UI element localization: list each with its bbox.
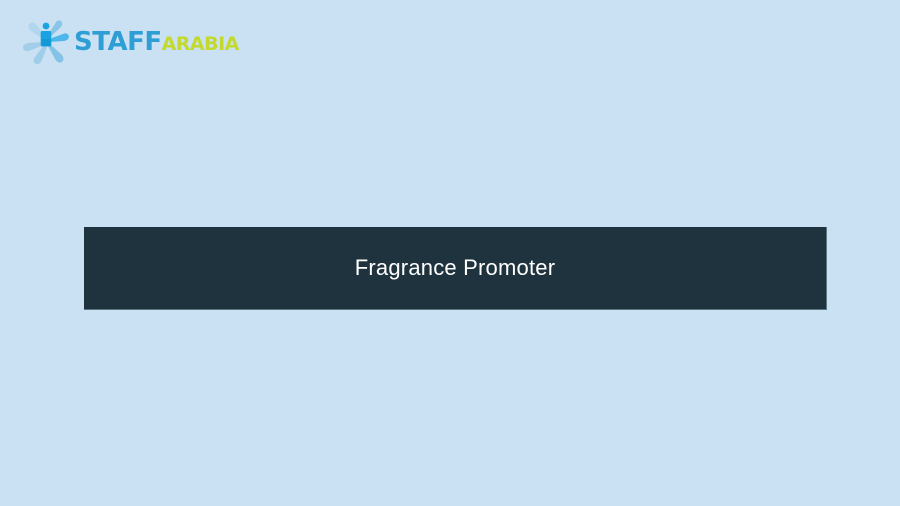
brand-logo[interactable]: STAFFarabia <box>22 16 272 66</box>
pinwheel-person-icon <box>22 17 70 65</box>
brand-wordmark: STAFFarabia <box>74 28 239 55</box>
title-banner: Fragrance Promoter <box>84 227 827 310</box>
page-title: Fragrance Promoter <box>355 255 555 281</box>
brand-wordmark-staff: STAFF <box>74 27 162 57</box>
brand-wordmark-arabia: arabia <box>162 26 239 57</box>
slide-canvas: STAFFarabia Fragrance Promoter <box>0 0 900 506</box>
